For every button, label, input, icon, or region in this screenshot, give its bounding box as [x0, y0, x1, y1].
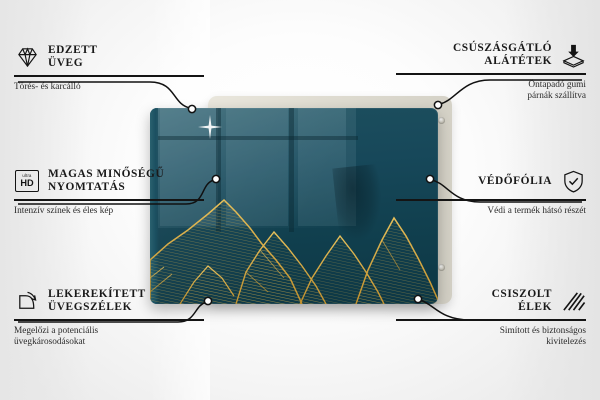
infographic-canvas: EDZETT ÜVEG Törés- és karcálló ultra HD …: [0, 0, 600, 400]
callout-subtitle: Védi a termék hátsó részét: [396, 206, 586, 218]
callout-rule: [396, 319, 586, 321]
callout-title-line: ÜVEG: [48, 57, 98, 70]
callout-title-line: ÜVEGSZÉLEK: [48, 301, 146, 314]
callout-rule: [396, 199, 586, 201]
callout-title-line: LEKEREKÍTETT: [48, 288, 146, 301]
callout-title-line: CSISZOLT: [492, 288, 552, 301]
callout-title-line: ALÁTÉTEK: [484, 55, 552, 68]
callout-rule: [14, 199, 204, 201]
press-pad-icon: [560, 42, 586, 68]
sparkle-icon: [197, 114, 223, 140]
diamond-icon: [14, 44, 40, 70]
callout-title-line: EDZETT: [48, 44, 98, 57]
shield-check-icon: [560, 168, 586, 194]
callout-rule: [396, 73, 586, 75]
callout-title-line: ÉLEK: [518, 301, 552, 314]
callout-protective-foil: VÉDŐFÓLIA Védi a termék hátsó részét: [396, 168, 586, 217]
ultra-hd-icon: ultra HD: [14, 168, 40, 194]
callout-rule: [14, 319, 204, 321]
callout-tempered-glass: EDZETT ÜVEG Törés- és karcálló: [14, 44, 204, 93]
callout-title-line: CSÚSZÁSGÁTLÓ: [453, 42, 552, 55]
callout-title-line: NYOMTATÁS: [48, 181, 164, 194]
callout-subtitle: Megelőzi a potenciális üvegkárosodásokat: [14, 326, 204, 349]
callout-subtitle: Intenzív színek és éles kép: [14, 206, 204, 218]
callout-subtitle: Öntapadó gumi párnák szállítva: [396, 80, 586, 103]
mount-hole: [438, 117, 445, 124]
callout-rounded-glass-edges: LEKEREKÍTETT ÜVEGSZÉLEK Megelőzi a poten…: [14, 288, 204, 349]
callout-title-line: MAGAS MINŐSÉGŰ: [48, 168, 164, 181]
callout-subtitle: Simított és biztonságos kivitelezés: [396, 326, 586, 349]
callout-title-line: VÉDŐFÓLIA: [478, 175, 552, 188]
rounded-corner-icon: [14, 288, 40, 314]
callout-subtitle: Törés- és karcálló: [14, 82, 204, 94]
callout-polished-edges: CSISZOLT ÉLEK Simított és biztonságos ki…: [396, 288, 586, 349]
callout-anti-slip-pads: CSÚSZÁSGÁTLÓ ALÁTÉTEK Öntapadó gumi párn…: [396, 42, 586, 103]
window-mullion: [158, 136, 358, 140]
callout-rule: [14, 75, 204, 77]
mount-hole: [438, 264, 445, 271]
callout-high-quality-print: ultra HD MAGAS MINŐSÉGŰ NYOMTATÁS Intenz…: [14, 168, 204, 217]
ultra-hd-main-text: HD: [20, 179, 33, 188]
diagonal-lines-icon: [560, 288, 586, 314]
